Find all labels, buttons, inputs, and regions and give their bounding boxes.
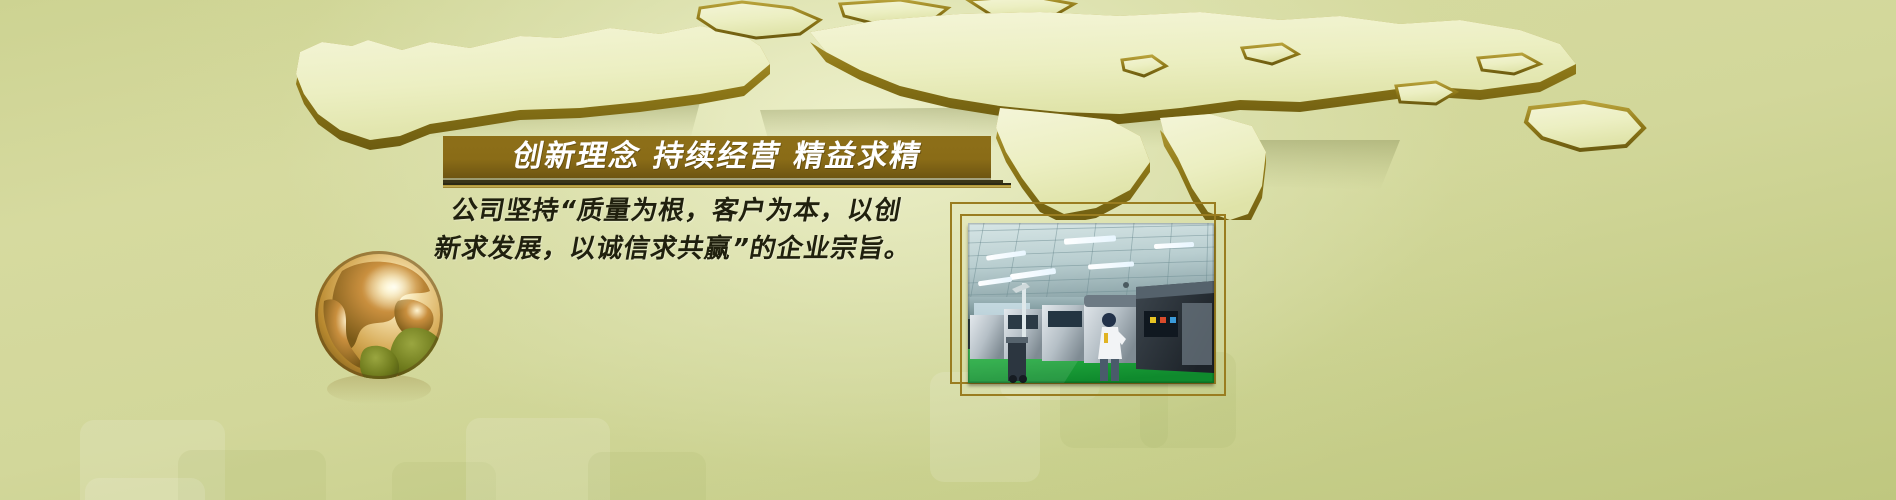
subtitle-line-2: 新求发展，以诚信求共赢”的企业宗旨。 — [441, 230, 968, 268]
photo-machine — [970, 315, 1006, 359]
photo-machine-button — [1160, 317, 1166, 323]
map-island — [1396, 82, 1456, 104]
map-africa-face — [996, 108, 1150, 214]
photo-machine-button — [1150, 317, 1156, 323]
headline-rule — [443, 183, 1011, 188]
decor-square — [392, 462, 496, 500]
photo-frame — [950, 202, 1232, 394]
map-north-america-face — [296, 26, 770, 140]
decor-square — [80, 420, 225, 500]
headline-bar: 创新理念 持续经营 精益求精 — [443, 136, 991, 178]
company-culture-banner: 创新理念 持续经营 精益求精 公司坚持“质量为根，客户为本，以创 新求发展，以诚… — [0, 0, 1896, 500]
map-island — [1122, 56, 1166, 76]
photo-machine-door — [1182, 303, 1212, 365]
decor-square — [85, 478, 205, 500]
map-island — [1478, 54, 1540, 74]
map-eurasia-face — [810, 12, 1576, 114]
decor-square — [178, 450, 326, 500]
map-greenland — [698, 2, 820, 38]
map-arctic-island — [840, 0, 948, 24]
photo-machine-panel — [1048, 311, 1082, 327]
subtitle-line-1: 公司坚持“质量为根，客户为本，以创 — [448, 192, 975, 230]
headline-text: 创新理念 持续经营 精益求精 — [510, 142, 925, 172]
map-australia — [1526, 102, 1644, 150]
photo-equipment-top — [1006, 337, 1028, 343]
map-island — [1242, 44, 1298, 64]
photo-machine-hood — [1084, 295, 1142, 307]
photo-equipment — [1008, 341, 1026, 381]
subtitle-block: 公司坚持“质量为根，客户为本，以创 新求发展，以诚信求共赢”的企业宗旨。 — [441, 192, 974, 268]
photo-machine-console — [1144, 311, 1178, 337]
factory-photo — [968, 223, 1214, 383]
map-eurasia-edge — [810, 12, 1576, 124]
decor-square — [466, 418, 610, 500]
map-arctic-island — [968, 0, 1074, 18]
photo-machine-button — [1170, 317, 1176, 323]
map-north-america-edge — [296, 26, 770, 150]
decor-square — [588, 452, 706, 500]
photo-ceiling-sensor — [1123, 282, 1129, 288]
globe-graphic — [306, 243, 456, 408]
globe-highlight — [364, 263, 424, 311]
